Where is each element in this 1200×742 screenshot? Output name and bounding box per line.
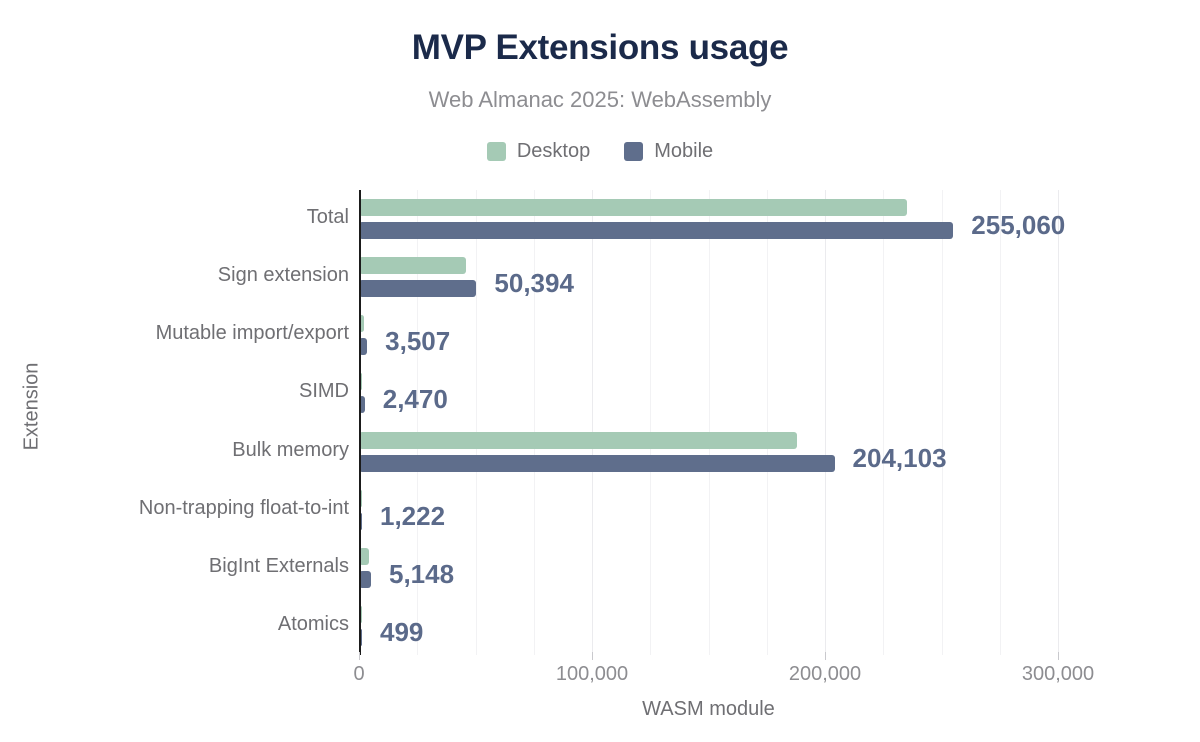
x-axis-title: WASM module bbox=[359, 698, 1058, 721]
x-tick-mark bbox=[592, 652, 593, 660]
x-tick-mark bbox=[359, 652, 360, 660]
y-axis-title: Extension bbox=[21, 347, 44, 467]
legend-item-mobile[interactable]: Mobile bbox=[624, 140, 713, 163]
chart-subtitle: Web Almanac 2025: WebAssembly bbox=[0, 87, 1200, 113]
y-tick-label: Total bbox=[19, 206, 349, 229]
x-axis-tick-labels: 0100,000200,000300,000 bbox=[359, 663, 1058, 693]
bar-value-label: 499 bbox=[380, 617, 423, 648]
x-tick-label: 0 bbox=[353, 663, 364, 686]
bar-mobile[interactable] bbox=[359, 222, 953, 239]
bar-value-label: 5,148 bbox=[389, 559, 454, 590]
legend-label-desktop: Desktop bbox=[517, 140, 590, 163]
bar-group: 1,222 bbox=[359, 490, 1058, 536]
chart-title: MVP Extensions usage bbox=[0, 28, 1200, 68]
bar-mobile[interactable] bbox=[359, 280, 476, 297]
y-tick-label: Sign extension bbox=[19, 264, 349, 287]
y-tick-label: Bulk memory bbox=[19, 439, 349, 462]
x-tick-mark bbox=[1058, 652, 1059, 660]
x-tick-label: 100,000 bbox=[556, 663, 628, 686]
legend-swatch-desktop bbox=[487, 142, 506, 161]
bar-mobile[interactable] bbox=[359, 455, 835, 472]
y-axis-line bbox=[359, 190, 361, 655]
chart-legend: Desktop Mobile bbox=[0, 140, 1200, 163]
bar-value-label: 255,060 bbox=[971, 210, 1065, 241]
bar-desktop[interactable] bbox=[359, 432, 797, 449]
bar-value-label: 50,394 bbox=[494, 268, 574, 299]
bar-value-label: 204,103 bbox=[853, 443, 947, 474]
bar-group: 50,394 bbox=[359, 257, 1058, 303]
y-tick-label: BigInt Externals bbox=[19, 555, 349, 578]
x-tick-label: 300,000 bbox=[1022, 663, 1094, 686]
y-tick-label: SIMD bbox=[19, 380, 349, 403]
bar-value-label: 1,222 bbox=[380, 501, 445, 532]
bar-group: 5,148 bbox=[359, 548, 1058, 594]
x-tick-mark bbox=[825, 652, 826, 660]
bar-desktop[interactable] bbox=[359, 199, 907, 216]
bar-group: 2,470 bbox=[359, 373, 1058, 419]
chart-container: MVP Extensions usage Web Almanac 2025: W… bbox=[0, 0, 1200, 742]
legend-label-mobile: Mobile bbox=[654, 140, 713, 163]
bar-value-label: 3,507 bbox=[385, 326, 450, 357]
bar-group: 255,060 bbox=[359, 199, 1058, 245]
bar-group: 499 bbox=[359, 606, 1058, 652]
y-axis-tick-labels: TotalSign extensionMutable import/export… bbox=[0, 190, 349, 655]
y-tick-label: Atomics bbox=[19, 613, 349, 636]
y-tick-label: Mutable import/export bbox=[19, 322, 349, 345]
gridline bbox=[1058, 190, 1059, 655]
plot-area: 255,06050,3943,5072,470204,1031,2225,148… bbox=[359, 190, 1058, 655]
legend-item-desktop[interactable]: Desktop bbox=[487, 140, 590, 163]
x-tick-label: 200,000 bbox=[789, 663, 861, 686]
legend-swatch-mobile bbox=[624, 142, 643, 161]
bar-group: 204,103 bbox=[359, 432, 1058, 478]
bar-value-label: 2,470 bbox=[383, 384, 448, 415]
bar-group: 3,507 bbox=[359, 315, 1058, 361]
y-tick-label: Non-trapping float-to-int bbox=[19, 497, 349, 520]
bar-desktop[interactable] bbox=[359, 257, 466, 274]
